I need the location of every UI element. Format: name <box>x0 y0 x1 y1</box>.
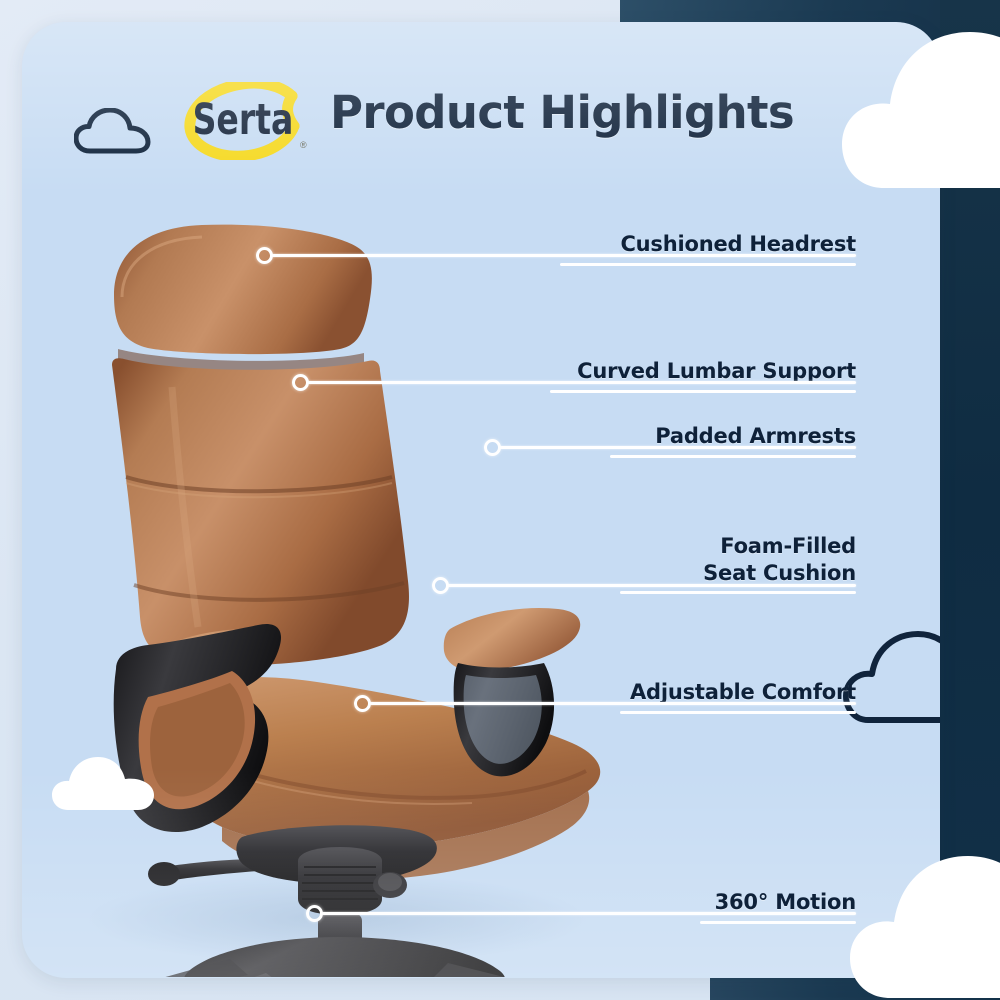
cloud-outline-icon <box>74 108 152 156</box>
callout-label-line1: Foam-Filled <box>720 534 856 558</box>
callout-underline <box>550 390 856 393</box>
registered-mark: ® <box>300 140 307 150</box>
leader-line-motion <box>322 912 856 915</box>
leader-line-lumbar <box>308 381 856 384</box>
leader-line-headrest <box>272 254 856 257</box>
leader-dot-adjustable <box>354 695 371 712</box>
leader-dot-seat <box>432 577 449 594</box>
leader-dot-motion <box>306 905 323 922</box>
callout-curved-lumbar-support: Curved Lumbar Support <box>550 345 856 393</box>
leader-line-adjustable <box>370 702 856 705</box>
cloud-bottom-right <box>846 840 1000 1000</box>
office-chair-image <box>52 177 632 977</box>
callout-360-motion: 360° Motion <box>700 876 856 924</box>
cloud-bottom-left <box>50 752 162 819</box>
callout-underline <box>560 263 856 266</box>
leader-line-armrests <box>500 446 856 449</box>
callout-padded-armrests: Padded Armrests <box>610 410 856 458</box>
callout-label: Foam-Filled Seat Cushion <box>703 533 856 586</box>
cloud-top-right <box>838 18 1000 198</box>
infographic-canvas: Serta ® Product Highlights <box>0 0 1000 1000</box>
cloud-right-middle <box>842 622 940 737</box>
callout-adjustable-comfort: Adjustable Comfort <box>620 666 856 714</box>
leader-dot-lumbar <box>292 374 309 391</box>
chair-armrest-right-pad <box>444 608 580 671</box>
leader-dot-armrests <box>484 439 501 456</box>
chair-backrest <box>112 358 409 665</box>
callout-underline <box>700 921 856 924</box>
serta-logo: Serta ® <box>180 82 310 160</box>
callout-foam-filled-seat: Foam-Filled Seat Cushion <box>620 512 856 594</box>
callout-underline <box>620 711 856 714</box>
callout-underline <box>620 591 856 594</box>
leader-dot-headrest <box>256 247 273 264</box>
serta-wordmark: Serta <box>193 95 294 144</box>
content-card: Serta ® Product Highlights <box>22 22 940 978</box>
callout-cushioned-headrest: Cushioned Headrest <box>560 218 856 266</box>
header: Serta ® Product Highlights <box>22 70 940 162</box>
callout-label-line2: Seat Cushion <box>703 561 856 585</box>
page-title: Product Highlights <box>330 86 794 139</box>
chair-headrest <box>114 225 372 355</box>
leader-line-seat <box>448 584 856 587</box>
callout-underline <box>610 455 856 458</box>
